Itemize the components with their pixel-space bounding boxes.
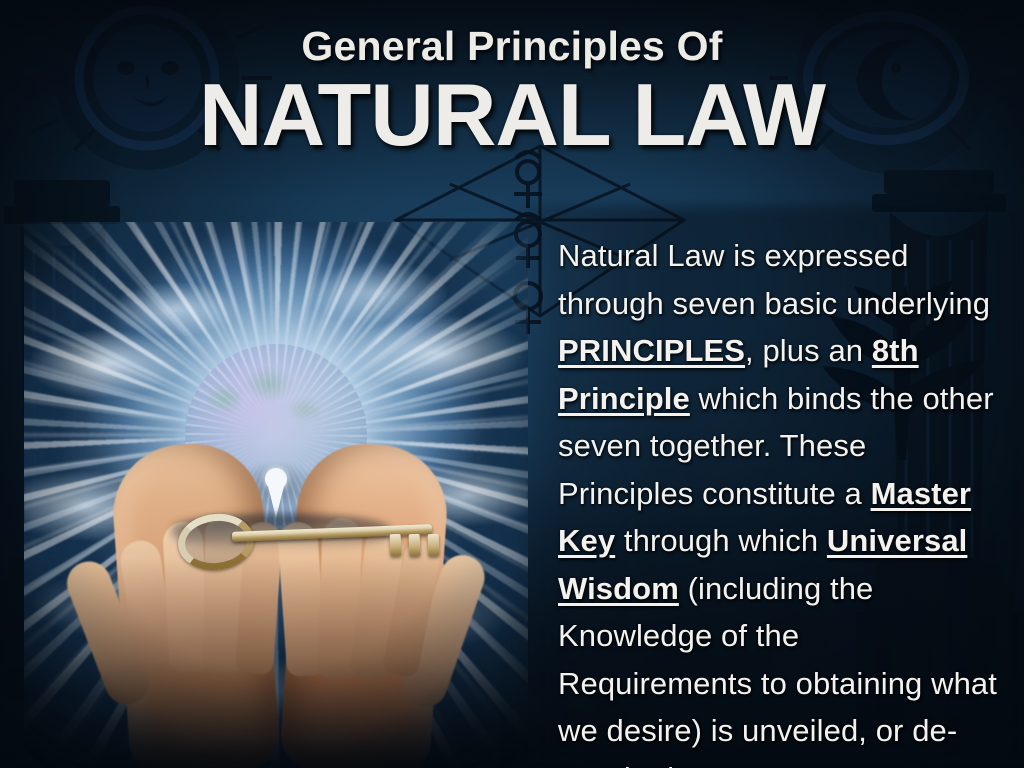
body-text-run: , plus an <box>745 333 872 368</box>
skeleton-key-icon <box>178 508 448 560</box>
slide-root: General Principles Of NATURAL LAW Natura… <box>0 0 1024 768</box>
body-text: Natural Law is expressed through seven b… <box>558 232 1002 768</box>
illustration-bottom-fade <box>24 558 528 768</box>
body-text-run: through which <box>615 523 827 558</box>
body-text-run: Natural Law is expressed through seven b… <box>558 238 990 321</box>
body-text-emphasis: PRINCIPLES <box>558 333 745 368</box>
key-illustration <box>24 222 528 768</box>
